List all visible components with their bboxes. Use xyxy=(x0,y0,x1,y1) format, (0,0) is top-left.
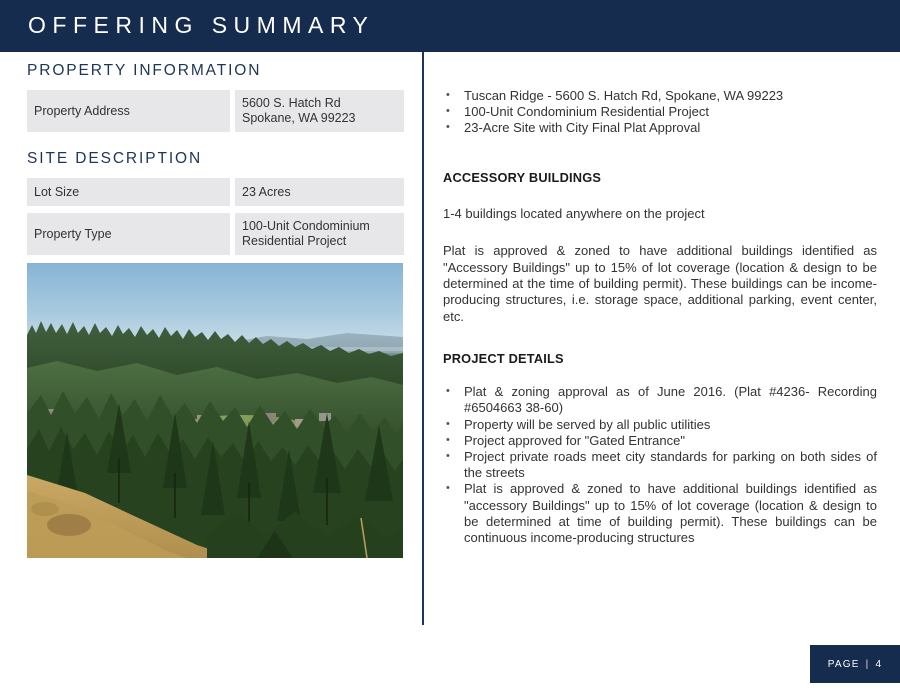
page-header-bar: OFFERING SUMMARY xyxy=(0,0,900,52)
accessory-buildings-paragraph: Plat is approved & zoned to have additio… xyxy=(443,243,877,325)
spacer xyxy=(443,222,877,243)
spacer xyxy=(443,185,877,206)
spacer xyxy=(443,137,877,170)
list-item: Plat & zoning approval as of June 2016. … xyxy=(443,384,877,416)
spacer xyxy=(443,325,877,351)
table-row: Property Type 100-Unit Condominium Resid… xyxy=(27,213,404,255)
page-number: 4 xyxy=(875,659,882,670)
table-row: Property Address 5600 S. Hatch Rd Spokan… xyxy=(27,90,404,132)
row-label: Property Type xyxy=(27,213,230,255)
accessory-buildings-heading: ACCESSORY BUILDINGS xyxy=(443,170,877,185)
row-value: 23 Acres xyxy=(235,178,404,206)
page-title: OFFERING SUMMARY xyxy=(28,12,374,39)
property-information-heading: PROPERTY INFORMATION xyxy=(27,62,404,80)
page-separator: | xyxy=(866,659,870,670)
project-details-heading: PROJECT DETAILS xyxy=(443,351,877,366)
row-value: 5600 S. Hatch Rd Spokane, WA 99223 xyxy=(235,90,404,132)
table-row: Lot Size 23 Acres xyxy=(27,178,404,206)
accessory-buildings-lead: 1-4 buildings located anywhere on the pr… xyxy=(443,206,877,223)
property-photo-graphic xyxy=(27,263,403,558)
row-value: 100-Unit Condominium Residential Project xyxy=(235,213,404,255)
row-value-line-1: 5600 S. Hatch Rd xyxy=(242,96,404,111)
list-item: Plat is approved & zoned to have additio… xyxy=(443,481,877,546)
property-information-table: Property Address 5600 S. Hatch Rd Spokan… xyxy=(27,90,404,132)
right-column: Tuscan Ridge - 5600 S. Hatch Rd, Spokane… xyxy=(443,88,877,546)
property-photo xyxy=(27,263,403,558)
list-item: Property will be served by all public ut… xyxy=(443,417,877,433)
list-item: 23-Acre Site with City Final Plat Approv… xyxy=(443,120,877,136)
column-divider xyxy=(422,52,424,625)
list-item: 100-Unit Condominium Residential Project xyxy=(443,104,877,120)
spacer xyxy=(443,366,877,384)
row-value-line-2: Residential Project xyxy=(242,234,404,249)
list-item: Tuscan Ridge - 5600 S. Hatch Rd, Spokane… xyxy=(443,88,877,104)
row-value-line-1: 23 Acres xyxy=(242,185,404,200)
summary-bullet-list: Tuscan Ridge - 5600 S. Hatch Rd, Spokane… xyxy=(443,88,877,137)
row-label: Lot Size xyxy=(27,178,230,206)
site-description-table: Lot Size 23 Acres Property Type 100-Unit… xyxy=(27,178,404,255)
left-column: PROPERTY INFORMATION Property Address 56… xyxy=(27,62,404,262)
site-description-heading: SITE DESCRIPTION xyxy=(27,150,404,168)
list-item: Project approved for "Gated Entrance" xyxy=(443,433,877,449)
row-label: Property Address xyxy=(27,90,230,132)
row-value-line-1: 100-Unit Condominium xyxy=(242,219,404,234)
list-item: Project private roads meet city standard… xyxy=(443,449,877,481)
page-number-badge: PAGE | 4 xyxy=(810,645,900,683)
project-details-bullet-list: Plat & zoning approval as of June 2016. … xyxy=(443,384,877,546)
page-label: PAGE xyxy=(828,659,860,670)
row-value-line-2: Spokane, WA 99223 xyxy=(242,111,404,126)
